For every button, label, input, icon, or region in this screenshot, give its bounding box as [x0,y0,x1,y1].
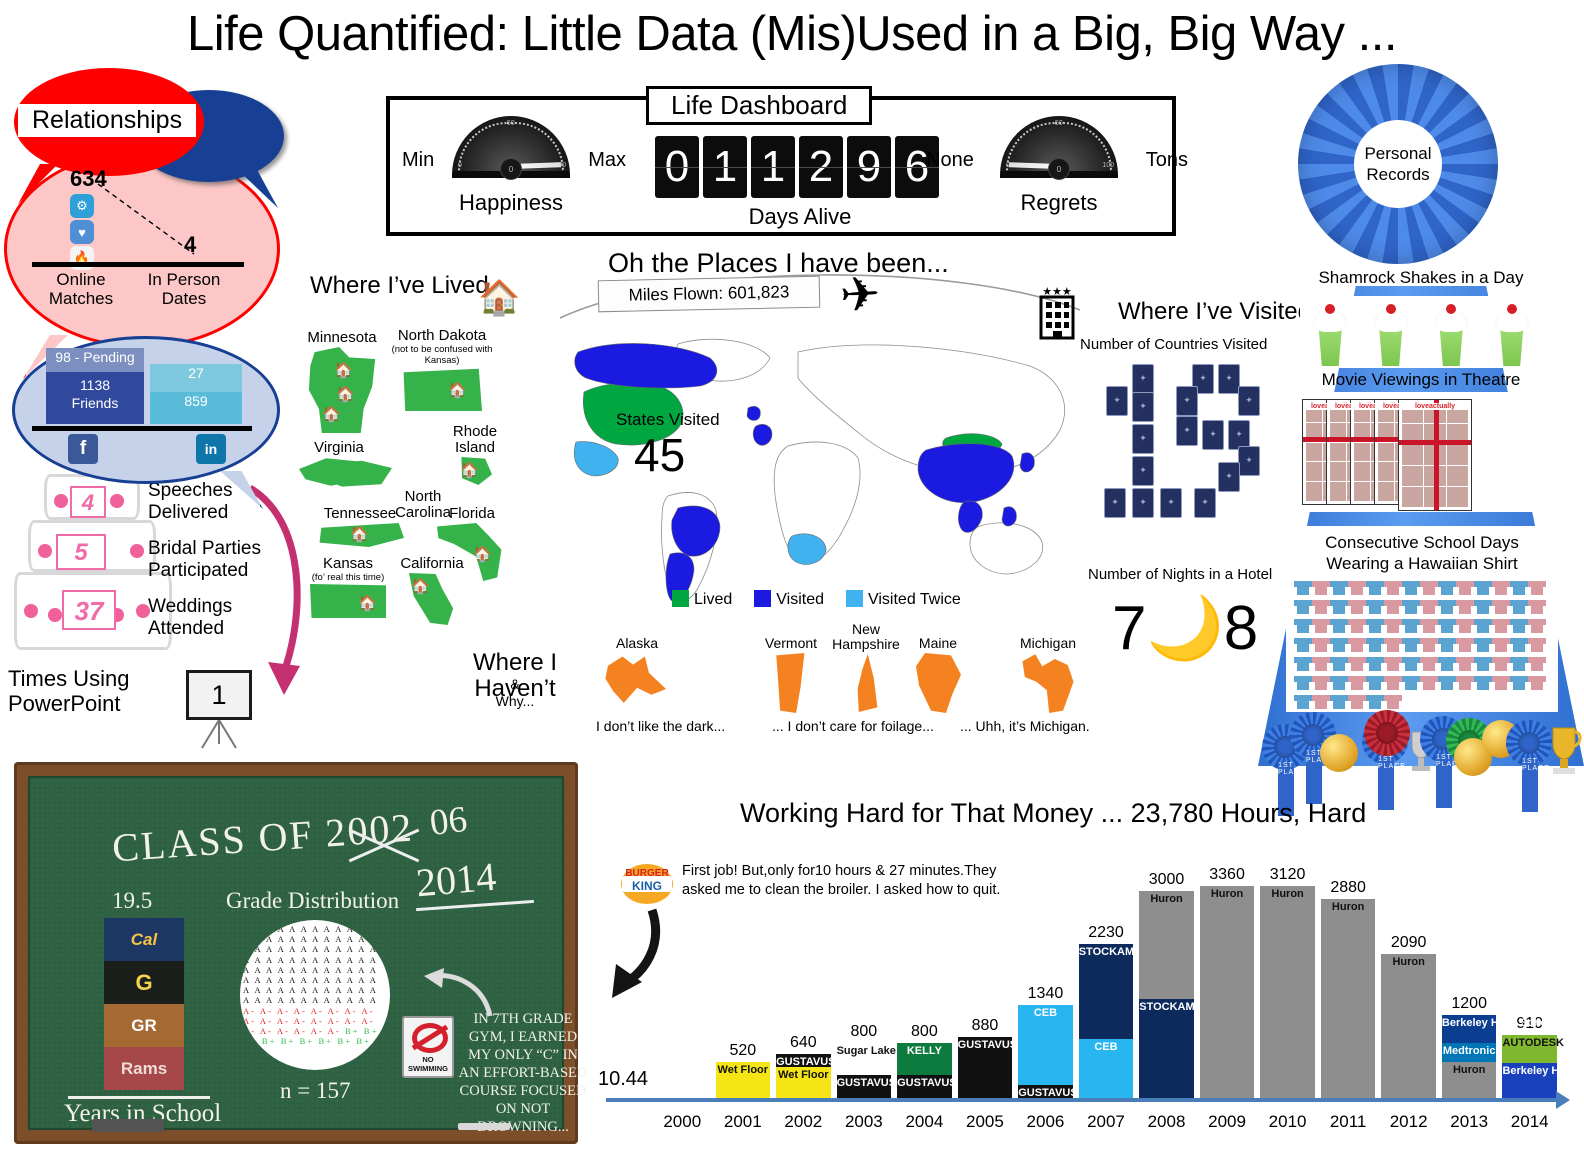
bar: Berkeley Haas School of BusinessMedtroni… [1442,1015,1497,1098]
bar-column: 1340CEBGUSTAVUS [1015,866,1076,1098]
house-icon: 🏠 [336,385,355,403]
regrets-min-label: None [926,149,974,172]
relationships-panel: Relationships 634 4 ⚙ ♥ 🔥 Online Matches… [4,68,294,458]
powerpoint-caption: Times Using PowerPoint [8,666,129,716]
bar: Huron [1321,899,1376,1098]
state-label: Tennessee [312,506,408,522]
cake-flower [110,494,124,508]
hawaiian-shirt-icon [1474,635,1492,654]
passport-icon [1218,364,1240,394]
hawaiian-shirt-icon [1438,616,1456,635]
bar-column: 2230STOCKAMPCEB [1076,866,1137,1098]
miles-flown-banner: Miles Flown: 601,823 [598,276,821,313]
bar-segment-gustavus: GUSTAVUS [958,1037,1013,1098]
bar-value-label: 2230 [1088,924,1124,942]
hawaiian-shirt-icon [1510,578,1528,597]
state-label: Michigan [1008,636,1088,651]
bar: Sugar Lake LODGEGUSTAVUS [837,1043,892,1098]
state-label-text: New Hampshire [832,621,900,652]
movie-viewings-title: Movie Viewings in Theatre [1258,370,1584,390]
year-06: 06 [428,798,470,845]
bar-segment-stockamp: STOCKAMP [1139,999,1194,1098]
state-label: Maine [904,636,972,651]
where-ive-lived-title: Where I’ve Lived [310,272,489,300]
hawaiian-shirt-icon [1528,578,1546,597]
nights-digit-right: 8 [1224,593,1258,664]
shamrock-shakes-title: Shamrock Shakes in a Day [1258,268,1584,288]
employer-logo-label: Wet Floor [776,1069,831,1081]
powerpoint-caption-1: Times Using [8,666,129,691]
bar-column: 910AUTODESKBerkeley Haas School of Busin… [1499,866,1560,1098]
bar-column: 3000HuronSTOCKAMP [1136,866,1197,1098]
hawaiian-shirt-icon [1528,597,1546,616]
state-alaska-not-visited: Alaska [592,636,682,711]
hawaiian-shirt-icon [1510,654,1528,673]
hawaiian-shirt-icon [1402,597,1420,616]
school-logo-cal: Cal [104,918,184,961]
x-axis-tick-label: 2011 [1318,1112,1379,1132]
hawaiian-shirt-icon [1438,673,1456,692]
weddings-attended-value: 37 [62,590,116,630]
house-icon: 🏠 [322,405,341,423]
states-visited-value: 45 [634,428,685,482]
first-job-hours-value: 10.44 [598,1068,648,1091]
shamrock-shake-icon [1371,304,1411,366]
hawaiian-shirt-icon [1492,616,1510,635]
x-axis-tick-label: 2010 [1257,1112,1318,1132]
hawaiian-shirt-icon [1402,673,1420,692]
x-axis-tick-label: 2002 [773,1112,834,1132]
pink-curved-arrow [244,480,314,720]
bar-value-label: 3000 [1149,871,1185,889]
hawaiian-shirt-icon [1402,635,1420,654]
bar-segment-gustavus: GUSTAVUS [837,1075,892,1098]
legend-item-lived: Lived [672,590,732,609]
passport-icon [1238,386,1260,416]
cake-flower [54,494,68,508]
eraser-icon [92,1119,164,1132]
state-shape-new-hampshire [851,654,881,712]
hawaiian-shirt-icon [1348,654,1366,673]
school-logo-stack: Cal G GR Rams [104,918,184,1093]
hawaiian-shirt-icon [1348,616,1366,635]
gauge-hub: 0 [1048,158,1070,180]
bar-column: 1200Berkeley Haas School of BusinessMedt… [1439,866,1500,1098]
bar-value-label: 880 [972,1017,999,1035]
gauge-tick-50: 50 [1055,120,1063,127]
hawaiian-shirt-icon [1384,654,1402,673]
hawaiian-shirt-icon [1366,654,1384,673]
facebook-friends: 1138 Friends [46,372,144,424]
x-axis-tick-label: 2012 [1378,1112,1439,1132]
relationships-header: Relationships [18,104,196,137]
regrets-max-label: Tons [1146,149,1188,172]
bar-column: 2880Huron [1318,866,1379,1098]
state-shape-california: 🏠 [409,573,455,625]
state-label: New Hampshire [820,622,912,652]
grade-distribution-pie: A A A A A A A A A A A A A A A A A A A A … [240,920,390,1070]
school-logo-gr: GR [104,1004,184,1047]
house-icon: 🏠 [411,577,430,595]
bar-column: 3360Huron [1197,866,1258,1098]
passport-icon [1176,386,1198,416]
projector-tripod-icon [196,720,242,750]
havent-why-label: Why... [496,693,535,709]
employer-logo-label: Huron [1200,888,1255,900]
shamrock-shake-icon [1310,304,1350,366]
bar-segment-huron: Huron [1381,954,1436,1098]
hawaiian-shirt-icon [1420,635,1438,654]
bar-column: 880GUSTAVUS [955,866,1016,1098]
hawaiian-shirt-icon [1492,578,1510,597]
cake-flower [130,544,144,558]
hawaiian-shirt-icon [1330,578,1348,597]
x-axis-tick-label: 2013 [1439,1112,1500,1132]
sample-size-label: n = 157 [280,1078,350,1104]
havent-caption-alaska: I don’t like the dark... [596,718,725,734]
havent-ampersand: & [510,676,519,692]
state-maine-not-visited: Maine [904,636,972,713]
passport-icon [1132,392,1154,422]
hawaiian-shirt-icon [1312,597,1330,616]
days-alive-digit: 2 [799,136,843,198]
employer-logo-label: AUTODESK [1502,1037,1557,1049]
house-icon: 🏠 [473,545,492,563]
bar-segment-berkeley: Berkeley Haas School of Business [1442,1015,1497,1043]
personal-records-panel: Personal Records Shamrock Shakes in a Da… [1258,64,1584,774]
hawaiian-shirt-icon [1492,673,1510,692]
bar: Huron [1260,886,1315,1098]
x-axis-labels: 2000200120022003200420052006200720082009… [652,1112,1560,1132]
rosette-line-1: Personal [1364,143,1431,164]
bar-value-label: 520 [729,1042,756,1060]
gold-trophy-icon [1544,726,1584,776]
hawaiian-shirt-icon [1528,635,1546,654]
hawaiian-shirt-icon [1510,616,1528,635]
gauge-tick-100: 100 [1102,162,1114,169]
house-icon: 🏠 [460,461,479,479]
days-alive-digit: 1 [751,136,795,198]
bar-value-label: 800 [911,1023,938,1041]
social-divider [32,426,252,431]
shamrock-shake-icon [1492,304,1532,366]
state-label: Alaska [592,636,682,651]
x-axis-tick-label: 2003 [834,1112,895,1132]
bar-column: 800KELLYGUSTAVUS [894,866,955,1098]
in-person-dates-label: In Person Dates [132,270,236,308]
state-north-dakota: North Dakota (not to be confused with Ka… [390,328,494,411]
movie-poster: loveactually [1398,399,1472,511]
bar-series: 10.44520Wet Floor640GUSTAVUSWet Floor800… [652,866,1560,1098]
hawaiian-shirt-icon [1348,578,1366,597]
social-icon-row: f in [46,434,246,464]
rosette-center-label: Personal Records [1354,120,1442,208]
bar: KELLYGUSTAVUS [897,1043,952,1098]
hawaiian-shirt-icon [1528,654,1546,673]
hawaiian-shirt-icon [1474,654,1492,673]
hawaiian-shirt-icon [1384,597,1402,616]
facebook-pending: 98 - Pending [46,348,144,372]
employer-logo-label: Huron [1321,901,1376,913]
bar-column: 520Wet Floor [713,866,774,1098]
bar-segment-huron: Huron [1442,1062,1497,1098]
state-kansas: Kansas (fo’ real this time) 🏠 [306,556,390,618]
bar-segment-wet: Wet Floor [716,1062,771,1098]
hawaiian-shirt-icon [1366,597,1384,616]
gauge-hub: 0 [500,158,522,180]
hawaiian-shirt-icon [1402,578,1420,597]
powerpoint-caption-2: PowerPoint [8,691,121,716]
happiness-max-label: Max [588,149,626,172]
bar-column: 10.44 [652,866,713,1098]
passport-icon [1160,488,1182,518]
hawaiian-shirt-icon [1438,654,1456,673]
state-label: Kansas [306,556,390,572]
bar-segment-kelly: KELLY [897,1043,952,1075]
hawaiian-shirt-icon [1456,654,1474,673]
house-icon: 🏠 [448,381,467,399]
legend-label-lived: Lived [694,591,732,608]
x-axis-tick-label: 2009 [1197,1112,1258,1132]
bar-value-label: 2090 [1391,934,1427,952]
hawaiian-shirt-icon [1312,616,1330,635]
hawaiian-shirt-panel: Consecutive School Days Wearing a Hawaii… [1286,526,1558,712]
cake-flower [38,544,52,558]
hawaiian-shirt-icon [1330,635,1348,654]
state-new-hampshire-not-visited: New Hampshire [820,622,912,712]
passport-icon [1106,386,1128,416]
work-hours-bar-chart: BURGER KING First job! But,only for10 ho… [596,846,1572,1146]
days-alive-digit: 0 [655,136,699,198]
state-california: California 🏠 [396,556,468,625]
legend-label-visited: Visited [776,591,824,608]
passport-icon [1218,462,1240,492]
chalkboard-surface: CLASS OF 2002 06 2014 19.5 Grade Distrib… [28,776,564,1130]
x-axis-tick-label: 2006 [1015,1112,1076,1132]
facebook-icon[interactable]: f [68,434,98,464]
regrets-gauge: None Tons 0 100 50 0 Regrets [974,116,1144,216]
bar-column: 3120Huron [1257,866,1318,1098]
bar-value-label: 800 [851,1023,878,1041]
online-label-2: Matches [49,289,113,308]
hotel-nights-label: Number of Nights in a Hotel [1088,566,1272,583]
hawaiian-shirt-icon [1528,673,1546,692]
hawaiian-shirt-icon [1402,654,1420,673]
hawaiian-shirt-icon [1312,654,1330,673]
havent-caption-michigan: ... Uhh, it’s Michigan. [960,718,1090,734]
linkedin-bottom-value: 859 [150,392,242,424]
x-axis-tick-label: 2001 [713,1112,774,1132]
gauge-tick-50: 50 [507,120,515,127]
hawaiian-shirt-icon [1474,673,1492,692]
x-axis-tick-label: 2005 [955,1112,1016,1132]
hawaiian-shirt-icon [1420,616,1438,635]
legend-swatch-visited-twice [846,590,863,607]
hawaiian-shirt-icon [1366,578,1384,597]
hawaiian-shirt-icon [1330,673,1348,692]
bar: HuronSTOCKAMP [1139,891,1194,1098]
online-matches-label: Online Matches [38,270,124,308]
passport-icon [1176,416,1198,446]
hawaiian-shirt-icon [1330,616,1348,635]
state-shape-tennessee: 🏠 [316,523,404,547]
map-legend: Lived Visited Visited Twice [672,590,961,609]
hawaiian-shirt-icon [1366,635,1384,654]
bar-segment-stockamp: STOCKAMP [1079,944,1134,1039]
legend-swatch-visited [754,590,771,607]
happiness-gauge: Min Max 0 100 50 0 Happiness [426,116,596,216]
hawaiian-shirt-icon [1312,673,1330,692]
employer-logo-label: STOCKAMP [1079,946,1134,958]
employer-logo-label: KELLY [897,1045,952,1057]
state-label: Florida [432,506,512,522]
employer-logo-label: GUSTAVUS [776,1056,831,1068]
hawaiian-shirt-icon [1384,635,1402,654]
school-logo-rams: Rams [104,1047,184,1090]
passport-icon [1132,364,1154,394]
facebook-friends-value: 1138 [80,377,110,393]
inperson-label-1: In Person [148,270,221,289]
hawaiian-shirt-icon [1420,673,1438,692]
state-rhode-island: Rhode Island 🏠 [440,424,510,485]
countries-visited-passports [1098,358,1268,558]
grade-note-text: IN 7TH GRADE GYM, I EARNED MY ONLY “C” I… [458,1010,588,1136]
hawaiian-shirt-icon [1510,635,1528,654]
online-label-1: Online [56,270,105,289]
hotel-nights-value: 7 🌙 8 [1112,592,1258,665]
hawaiian-shirt-icon [1366,673,1384,692]
state-tennessee: Tennessee 🏠 [312,506,408,547]
bar: Huron [1381,954,1436,1098]
hawaiian-shirt-title-2: Wearing a Hawaiian Shirt [1294,553,1550,574]
bar-value-label: 640 [790,1034,817,1052]
passport-icon [1132,456,1154,486]
hawaiian-shirt-icon [1420,654,1438,673]
bar-segment-huron: Huron [1260,886,1315,1098]
passport-icon [1202,420,1224,450]
hawaiian-shirt-icon [1348,673,1366,692]
house-icon: 🏠 [478,278,520,318]
hawaiian-shirt-icon [1312,578,1330,597]
bridal-parties-value: 5 [56,534,106,570]
legend-item-visited-twice: Visited Twice [846,590,961,609]
hawaiian-shirt-icon [1456,597,1474,616]
dating-app-icons: ⚙ ♥ 🔥 [70,194,94,272]
bar-segment-ceb: CEB [1018,1005,1073,1085]
state-shape-maine [913,653,963,713]
havent-caption-newengland: ... I don’t care for foilage... [772,718,934,734]
hawaiian-shirt-icon [1474,597,1492,616]
bar-segment-huron: Huron [1200,886,1255,1098]
bar: AUTODESKBerkeley Haas School of Business [1502,1035,1557,1098]
relationships-divider [32,262,244,267]
bar-segment-gustavus: GUSTAVUS [1018,1085,1073,1098]
linkedin-icon[interactable]: in [196,434,226,464]
hawaiian-shirt-icon [1366,616,1384,635]
state-sublabel: (not to be confused with Kansas) [390,344,494,366]
bar-column: 800Sugar Lake LODGEGUSTAVUS [834,866,895,1098]
hawaiian-shirt-icon [1456,635,1474,654]
hawaiian-shirt-icon [1510,597,1528,616]
airplane-icon: ✈ [839,271,882,321]
x-axis-tick-label: 2014 [1499,1112,1560,1132]
hawaiian-shirt-icon [1330,654,1348,673]
employer-logo-label: Berkeley Haas School of Business [1442,1017,1497,1029]
countries-visited-label: Number of Countries Visited [1080,336,1267,353]
happiness-min-label: Min [402,149,434,172]
x-axis-tick-label: 2004 [894,1112,955,1132]
hawaiian-shirt-icon [1420,597,1438,616]
personal-records-rosette: Personal Records [1298,64,1498,264]
hawaiian-shirt-icon [1528,616,1546,635]
employer-logo-label: STOCKAMP [1139,1001,1194,1013]
employer-logo-label: Wet Floor [716,1064,771,1076]
years-in-school-underline [68,1096,210,1099]
state-label: Virginia [294,440,384,456]
bar: Wet Floor [716,1062,771,1098]
hawaiian-shirt-icon [1294,673,1312,692]
bar-segment-ceb: CEB [1079,1039,1134,1098]
hawaiian-shirt-grid [1294,578,1550,711]
bar: STOCKAMPCEB [1079,944,1134,1098]
state-shape-rhode-island: 🏠 [458,457,492,485]
hawaiian-shirt-icon [1492,597,1510,616]
hawaiian-shirt-icon [1492,654,1510,673]
hawaiian-shirt-icon [1294,654,1312,673]
bar-segment-berkeley: Berkeley Haas School of Business [1502,1063,1557,1098]
bar: Huron [1200,886,1255,1098]
employer-logo-label: Huron [1139,893,1194,905]
hawaiian-shirt-icon [1330,597,1348,616]
bar-value-label: 1200 [1451,995,1487,1013]
days-alive-digit: 1 [703,136,747,198]
movie-posters-stack: loveactually loveactually loveactually l… [1294,392,1548,512]
state-vermont-not-visited: Vermont [756,636,826,713]
legend-swatch-lived [672,590,689,607]
cake-flower [48,608,62,622]
where-i-havent-sub: & Why... [430,676,600,710]
hawaiian-shirt-icon [1456,616,1474,635]
hawaiian-shirt-icon [1438,597,1456,616]
legend-item-visited: Visited [754,590,824,609]
employer-logo-label: Medtronic [1442,1045,1497,1057]
hawaiian-shirt-icon [1474,578,1492,597]
bar-value-label: 3120 [1270,866,1306,884]
label-weddings-attended: Weddings Attended [148,596,258,640]
speeches-delivered-value: 4 [70,486,106,518]
house-icon: 🏠 [350,525,369,543]
passport-icon [1132,424,1154,454]
hawaiian-shirt-icon [1384,673,1402,692]
house-icon: 🏠 [334,361,353,379]
legend-label-visited-twice: Visited Twice [868,591,961,608]
employer-logo-label: CEB [1079,1041,1134,1053]
state-shape-minnesota: 🏠 🏠 🏠 [306,347,378,433]
award-ribbon-tail: 1ST PLACE [1522,758,1538,812]
passport-icon [1194,488,1216,518]
powerpoint-screen: 1 [186,670,252,720]
passport-icon [1132,488,1154,518]
hawaiian-shirt-icon [1294,635,1312,654]
hawaiian-shirt-icon [1402,616,1420,635]
shamrock-shakes-row [1300,296,1542,368]
school-logo-gustavus: G [104,961,184,1004]
x-axis-arrowhead [1556,1091,1570,1109]
bar-column: 640GUSTAVUSWet Floor [773,866,834,1098]
state-shape-michigan [1019,653,1077,713]
house-icon: 🏠 [358,594,377,612]
page-title: Life Quantified: Little Data (Mis)Used i… [0,6,1584,62]
